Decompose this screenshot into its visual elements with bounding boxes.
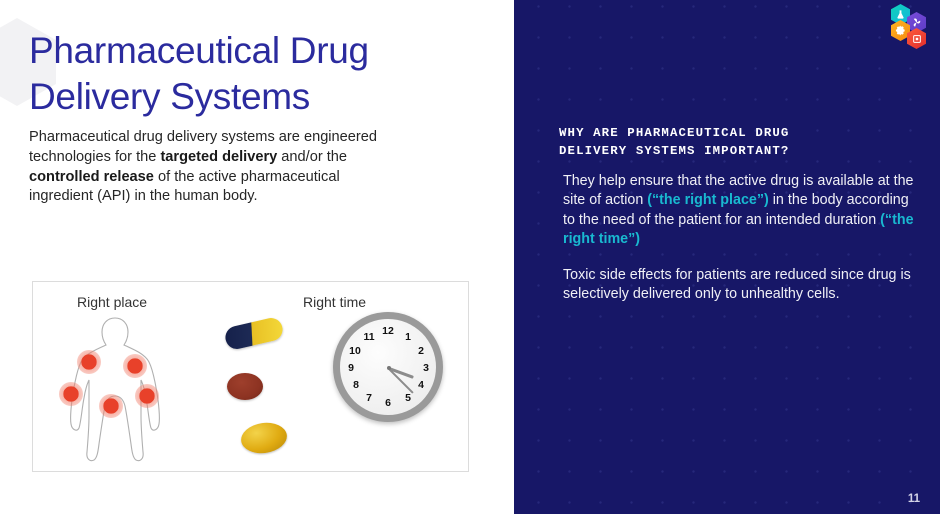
capsule-pill-icon [223,316,285,351]
panel-paragraph-1: They help ensure that the active drug is… [563,172,923,249]
softgel-pill-icon [239,420,289,456]
target-marker [77,350,101,374]
clock-numeral: 12 [381,325,395,337]
wall-clock-illustration: 12 1 2 3 4 5 6 7 8 9 10 11 [333,312,443,422]
chip-icon [912,34,922,44]
page-subtitle: Pharmaceutical drug delivery systems are… [29,128,389,207]
clock-numeral: 8 [349,379,363,391]
clock-numeral: 11 [362,331,376,343]
left-content-column: Pharmaceutical Drug Delivery Systems Pha… [0,0,514,514]
panel-paragraph-2: Toxic side effects for patients are redu… [563,266,923,305]
subtitle-bold-targeted-delivery: targeted delivery [160,149,277,165]
target-marker [99,394,123,418]
target-marker [123,354,147,378]
accent-right-place: (“the right place”) [647,192,769,208]
pills-illustration [211,318,307,458]
figure-panel: Right place Right time [32,281,469,472]
panel-heading: WHY ARE PHARMACEUTICAL DRUG DELIVERY SYS… [559,124,889,160]
figure-label-right-time: Right time [303,294,366,310]
subtitle-part-2: and/or the [277,149,347,165]
slide: Pharmaceutical Drug Delivery Systems Pha… [0,0,940,514]
page-number: 11 [908,493,920,505]
clock-center-hub [387,366,391,370]
target-marker [135,384,159,408]
brand-logo[interactable] [889,4,933,44]
clock-face: 12 1 2 3 4 5 6 7 8 9 10 11 [340,319,436,415]
clock-numeral: 2 [414,345,428,357]
clock-numeral: 3 [419,362,433,374]
gear-icon [895,25,906,36]
paragraph-spacer [563,249,923,266]
panel-heading-line-1: WHY ARE PHARMACEUTICAL DRUG [559,126,789,140]
tablet-pill-icon [227,373,263,400]
target-marker [59,382,83,406]
panel-heading-line-2: DELIVERY SYSTEMS IMPORTANT? [559,144,789,158]
flask-icon [895,9,906,20]
figure-label-right-place: Right place [77,294,147,310]
clock-numeral: 4 [414,379,428,391]
human-body-illustration [55,312,175,464]
right-info-panel: WHY ARE PHARMACEUTICAL DRUG DELIVERY SYS… [514,0,940,514]
propeller-icon [911,17,922,28]
clock-numeral: 7 [362,392,376,404]
clock-numeral: 1 [401,331,415,343]
clock-numeral: 5 [401,392,415,404]
page-title: Pharmaceutical Drug Delivery Systems [29,28,449,120]
panel-body-text: They help ensure that the active drug is… [563,172,923,305]
clock-numeral: 6 [381,397,395,409]
clock-numeral: 10 [348,345,362,357]
clock-numeral: 9 [344,362,358,374]
subtitle-bold-controlled-release: controlled release [29,169,154,185]
